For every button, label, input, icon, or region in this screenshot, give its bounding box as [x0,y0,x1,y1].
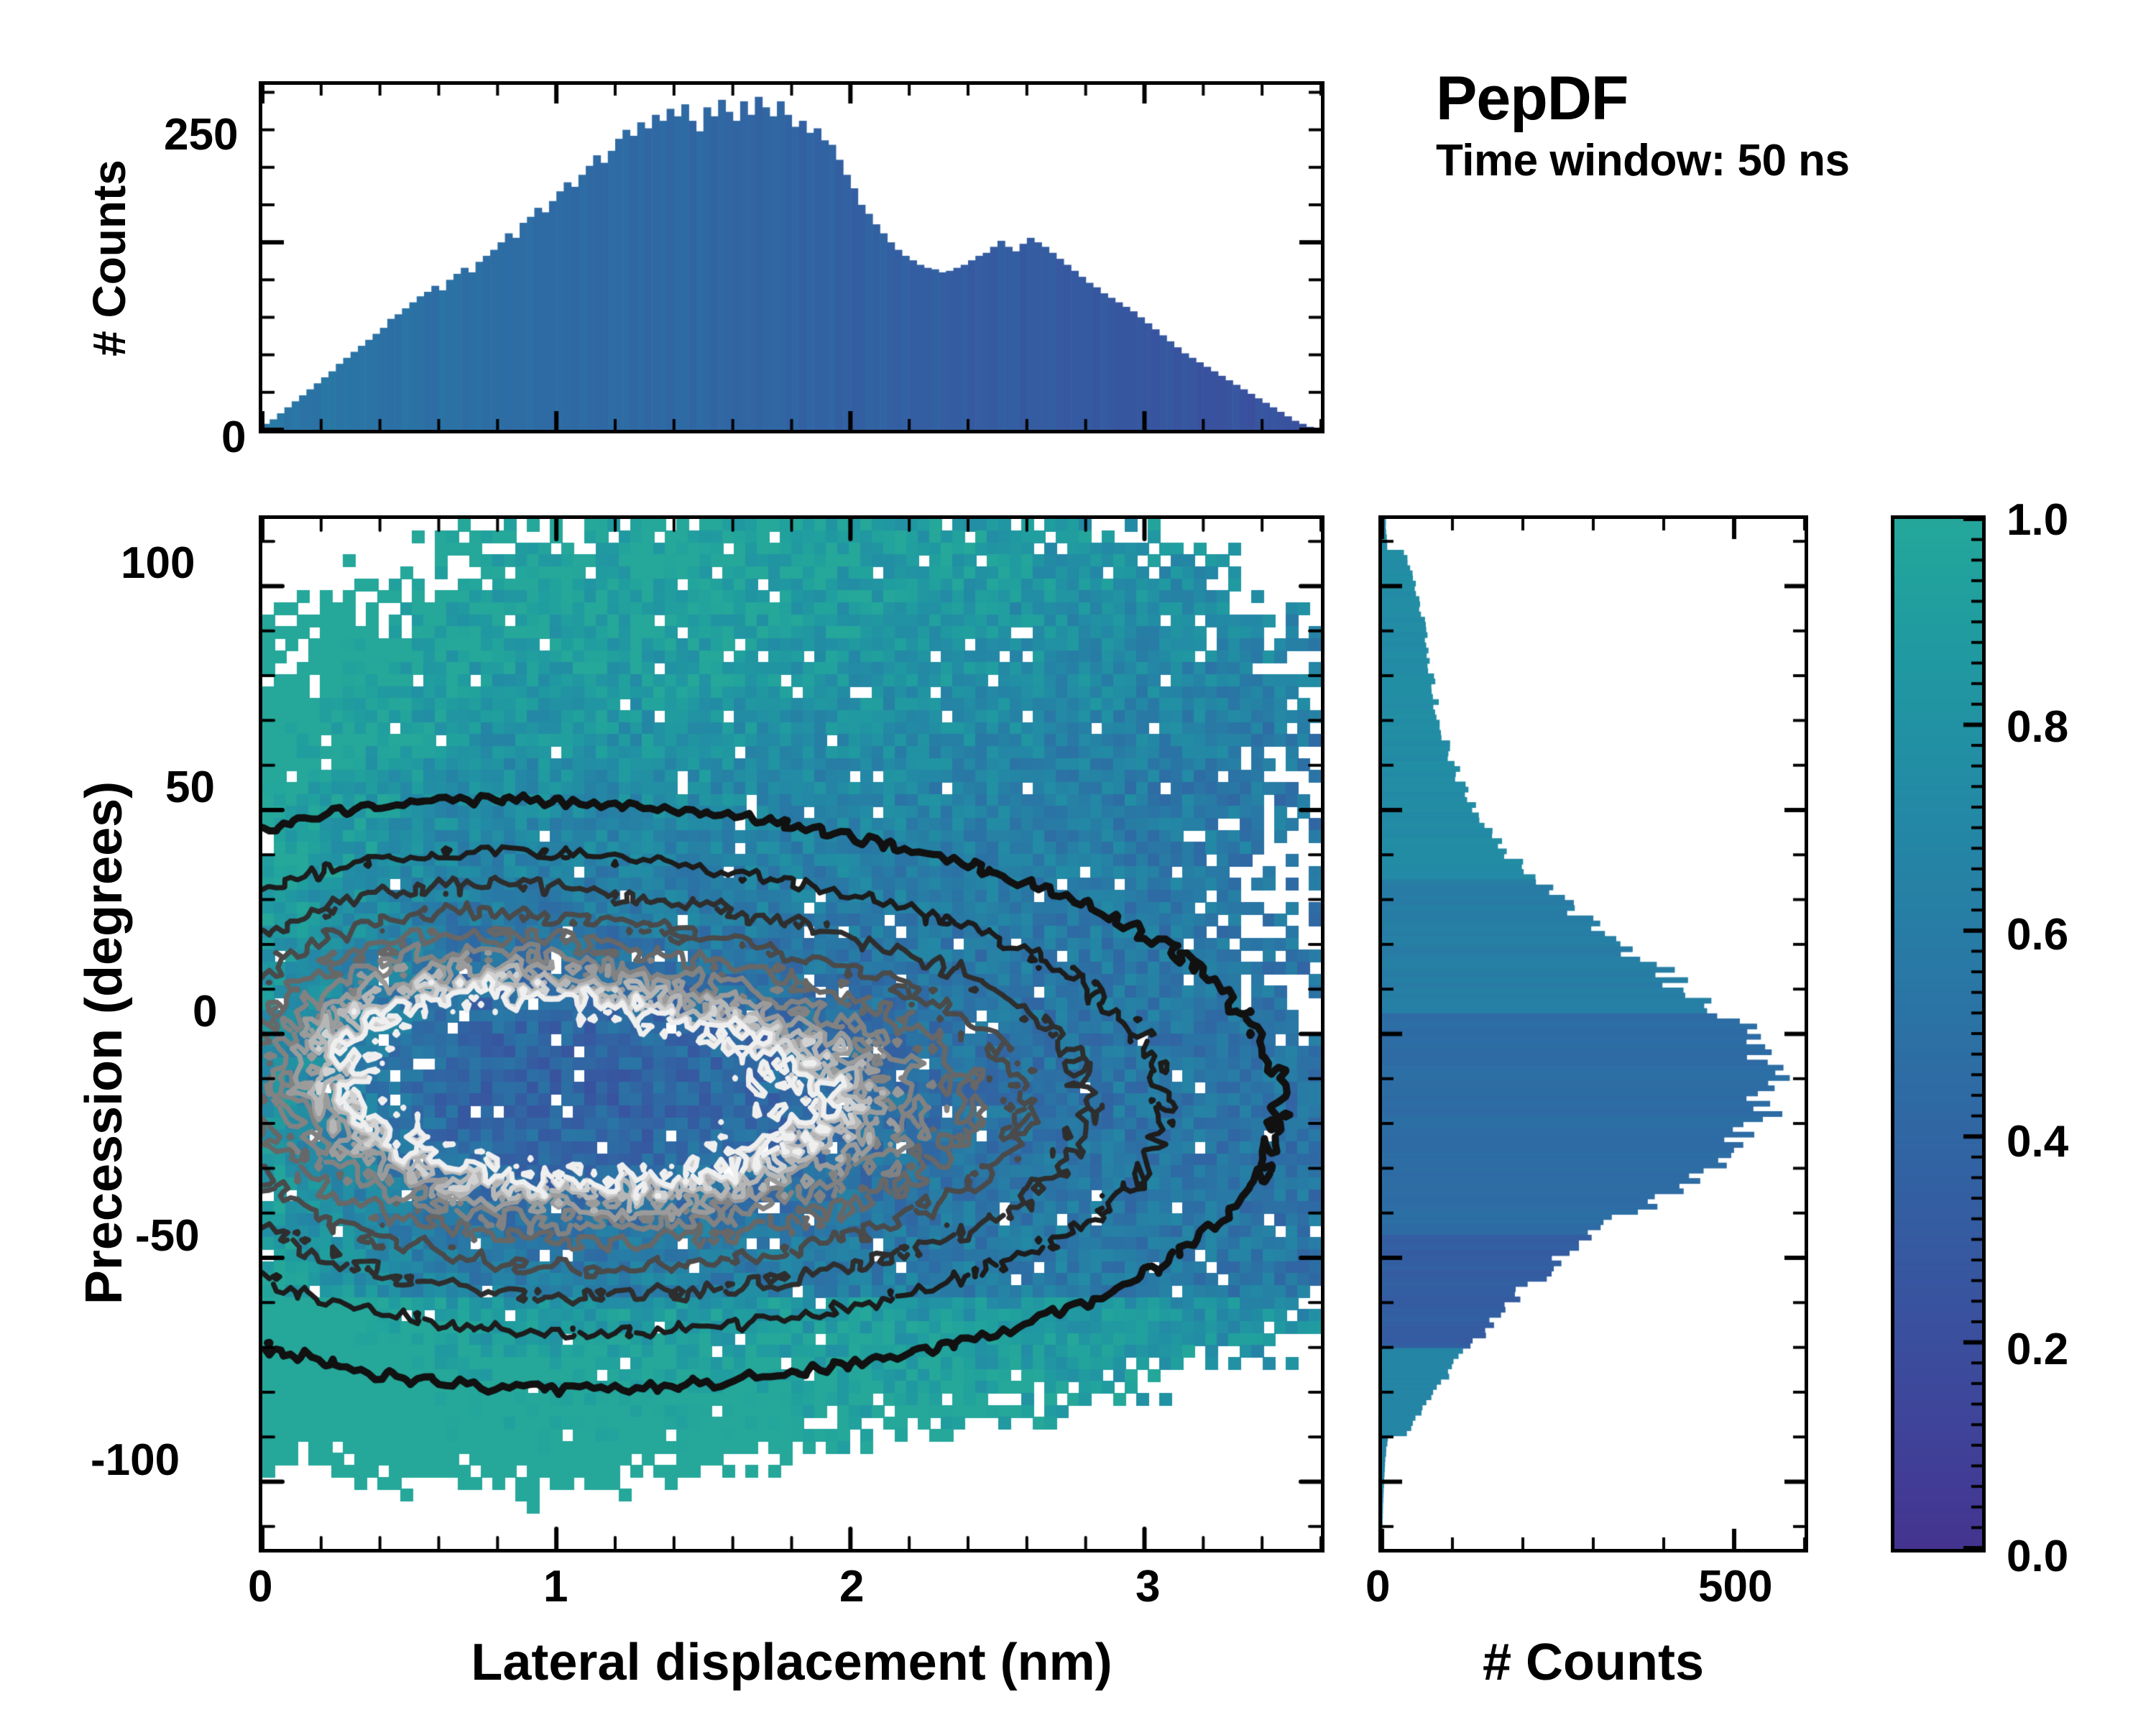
top-hist-ylabel: # Counts [83,136,136,380]
main-ytick-0: 0 [193,986,217,1037]
main-ytick-neg50: -50 [135,1210,200,1261]
main-xtick-1: 1 [543,1561,568,1612]
main-ytick-neg100: -100 [91,1435,180,1486]
figure-title: PepDF [1436,63,1628,134]
top-hist-ytick-250: 250 [164,109,238,160]
main-xtick-3: 3 [1135,1561,1160,1612]
colorbar-tick-0p2: 0.2 [2007,1324,2068,1375]
main-ytick-50: 50 [165,762,215,813]
main-heatmap-canvas [262,519,1321,1549]
main-xtick-0: 0 [248,1561,272,1612]
figure-subtitle: Time window: 50 ns [1436,135,1850,186]
colorbar-tick-1p0: 1.0 [2007,494,2068,546]
right-hist-xtick-500: 500 [1698,1561,1772,1612]
top-hist-ytick-0: 0 [221,412,246,463]
colorbar-tick-0p4: 0.4 [2007,1116,2068,1167]
colorbar-canvas [1894,519,1982,1549]
right-hist-xlabel: # Counts [1378,1633,1808,1692]
main-ylabel: Precession (degrees) [75,734,134,1352]
main-ytick-100: 100 [121,538,195,589]
top-histogram-canvas [262,85,1321,430]
main-xlabel: Lateral displacement (nm) [259,1633,1325,1692]
colorbar-tick-0p8: 0.8 [2007,701,2068,753]
right-histogram-canvas [1382,519,1805,1549]
colorbar-tick-0p6: 0.6 [2007,909,2068,960]
right-hist-xtick-0: 0 [1365,1561,1390,1612]
colorbar-tick-0p0: 0.0 [2007,1531,2068,1582]
main-xtick-2: 2 [839,1561,864,1612]
